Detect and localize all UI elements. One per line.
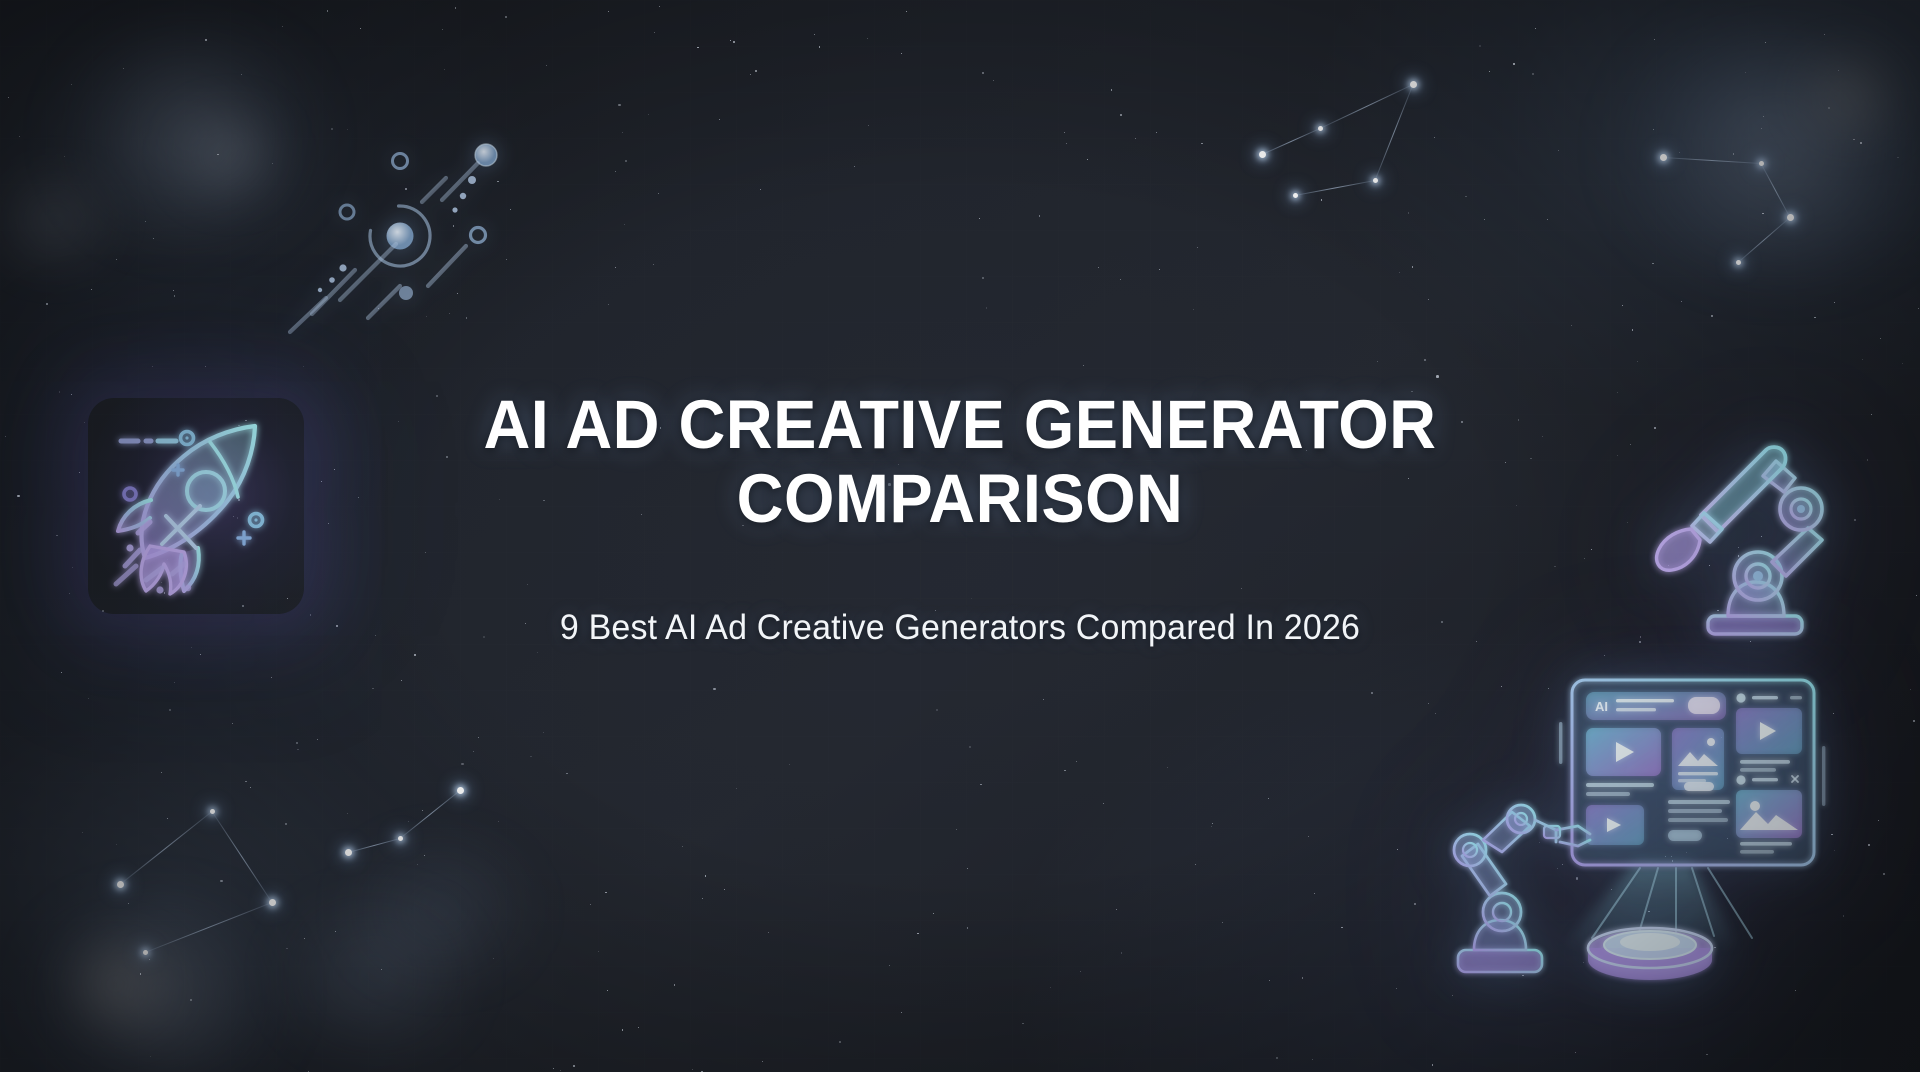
nebula-bottom-left-core bbox=[55, 945, 175, 1023]
hero-title-block: AI AD CREATIVE GENERATOR COMPARISON bbox=[0, 388, 1920, 536]
hero-title-line-2: COMPARISON bbox=[58, 462, 1863, 536]
hero-title-line-1: AI AD CREATIVE GENERATOR bbox=[58, 388, 1863, 462]
orbiting-particles-icon bbox=[250, 118, 550, 348]
hero-subtitle: 9 Best AI Ad Creative Generators Compare… bbox=[29, 608, 1891, 648]
nebula-top-right-core bbox=[1795, 60, 1905, 132]
nebula-top-right bbox=[1600, 20, 1920, 280]
hero-banner: AI bbox=[0, 0, 1920, 1072]
nebula-corner-tl bbox=[0, 180, 120, 260]
hologram-ai-label: AI bbox=[1595, 699, 1608, 714]
nebula-lower-center bbox=[330, 845, 550, 975]
nebula-bottom-left bbox=[10, 900, 310, 1072]
hologram-ad-dashboard-icon: AI bbox=[1440, 650, 1860, 980]
nebula-bottom-mid bbox=[260, 905, 490, 1045]
